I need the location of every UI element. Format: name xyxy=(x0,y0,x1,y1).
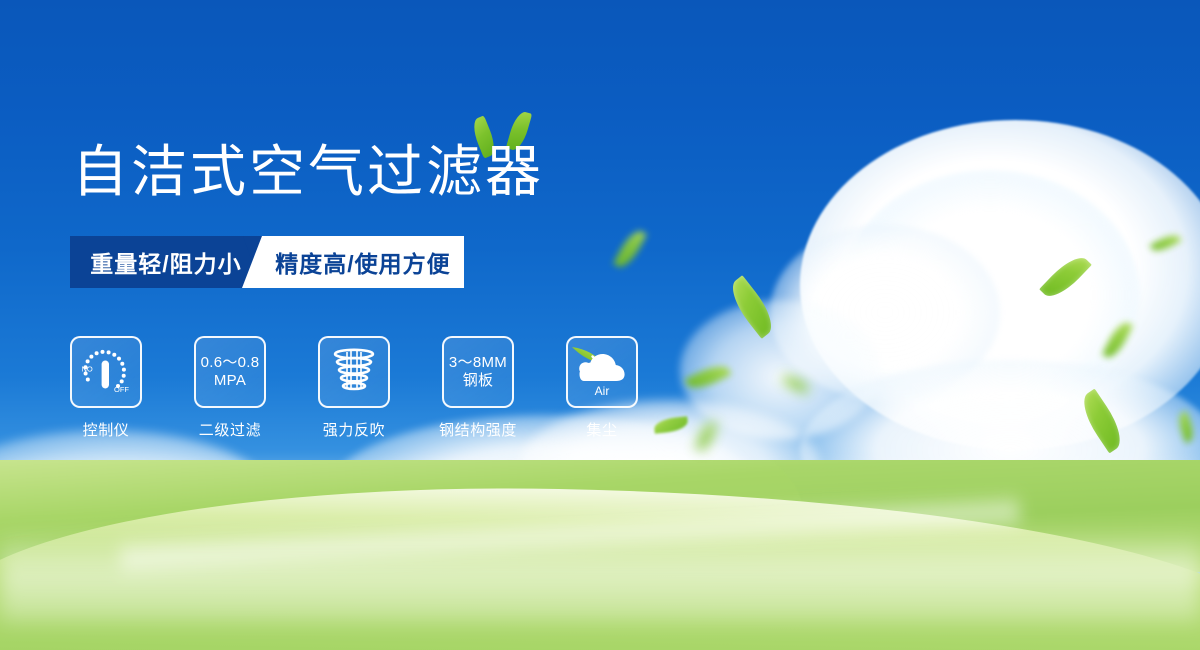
cloud-air-label: Air xyxy=(595,384,610,398)
feature-icon-box: Air xyxy=(566,336,638,408)
subtitle-badge-bar: 重量轻/阻力小 精度高/使用方便 xyxy=(70,236,464,288)
floating-leaf-icon xyxy=(685,360,732,394)
steel-plate-text: 钢板 xyxy=(463,372,494,390)
subtitle-badge-left: 重量轻/阻力小 xyxy=(70,236,262,288)
grass-highlight-lower xyxy=(0,532,1200,622)
floating-leaf-icon xyxy=(653,416,688,433)
feature-item-controller[interactable]: NO OFF 控制仪 xyxy=(70,336,142,440)
floating-leaf-icon xyxy=(1150,231,1182,255)
cloud-shape-main xyxy=(800,120,1200,450)
subtitle-badge-right: 精度高/使用方便 xyxy=(262,236,464,288)
feature-label: 控制仪 xyxy=(83,419,130,440)
feature-label: 钢结构强度 xyxy=(439,419,517,440)
steel-thickness-text: 3～8MM xyxy=(449,354,507,372)
feature-item-dust-collection[interactable]: Air 集尘 xyxy=(566,336,638,440)
feature-icon-box: 0.6～0.8 MPA xyxy=(194,336,266,408)
feature-item-secondary-filter[interactable]: 0.6～0.8 MPA 二级过滤 xyxy=(194,336,266,440)
pressure-range-text: 0.6～0.8 xyxy=(201,354,260,372)
cloud-shape-secondary xyxy=(840,170,1140,420)
floating-leaf-icon xyxy=(723,275,780,339)
feature-item-steel-strength[interactable]: 3～8MM 钢板 钢结构强度 xyxy=(442,336,514,440)
floating-leaf-icon xyxy=(1102,319,1133,362)
floating-leaf-icon xyxy=(1175,411,1197,443)
feature-icon-box xyxy=(318,336,390,408)
banner-title: 自洁式空气过滤器 xyxy=(72,145,544,201)
feature-icon-box: 3～8MM 钢板 xyxy=(442,336,514,408)
subtitle-right-text: 精度高/使用方便 xyxy=(275,245,450,279)
floating-leaf-icon xyxy=(613,227,647,272)
feature-icon-row: NO OFF 控制仪 0.6～0.8 MPA 二级过滤 xyxy=(70,336,638,440)
coil-blowback-icon xyxy=(327,346,381,398)
feature-label: 二级过滤 xyxy=(199,419,261,440)
pressure-unit-text: MPA xyxy=(214,372,246,390)
feature-item-blowback[interactable]: 强力反吹 xyxy=(318,336,390,440)
feature-icon-box: NO OFF xyxy=(70,336,142,408)
cloud-shape-tertiary xyxy=(770,225,1000,400)
grass-field xyxy=(0,460,1200,650)
feature-label: 集尘 xyxy=(586,419,617,440)
cloud-air-icon: Air xyxy=(570,343,634,401)
floating-leaf-icon xyxy=(1039,250,1092,303)
control-dial-icon: NO OFF xyxy=(76,344,136,400)
floating-leaf-icon xyxy=(695,419,718,454)
dial-off-label: OFF xyxy=(114,385,129,394)
feature-label: 强力反吹 xyxy=(323,419,385,440)
subtitle-left-text: 重量轻/阻力小 xyxy=(90,245,241,279)
product-hero-banner: 自洁式空气过滤器 重量轻/阻力小 精度高/使用方便 xyxy=(0,0,1200,650)
dial-on-label: NO xyxy=(82,365,93,374)
floating-leaf-icon xyxy=(1075,389,1130,454)
floating-leaf-icon xyxy=(780,374,810,393)
